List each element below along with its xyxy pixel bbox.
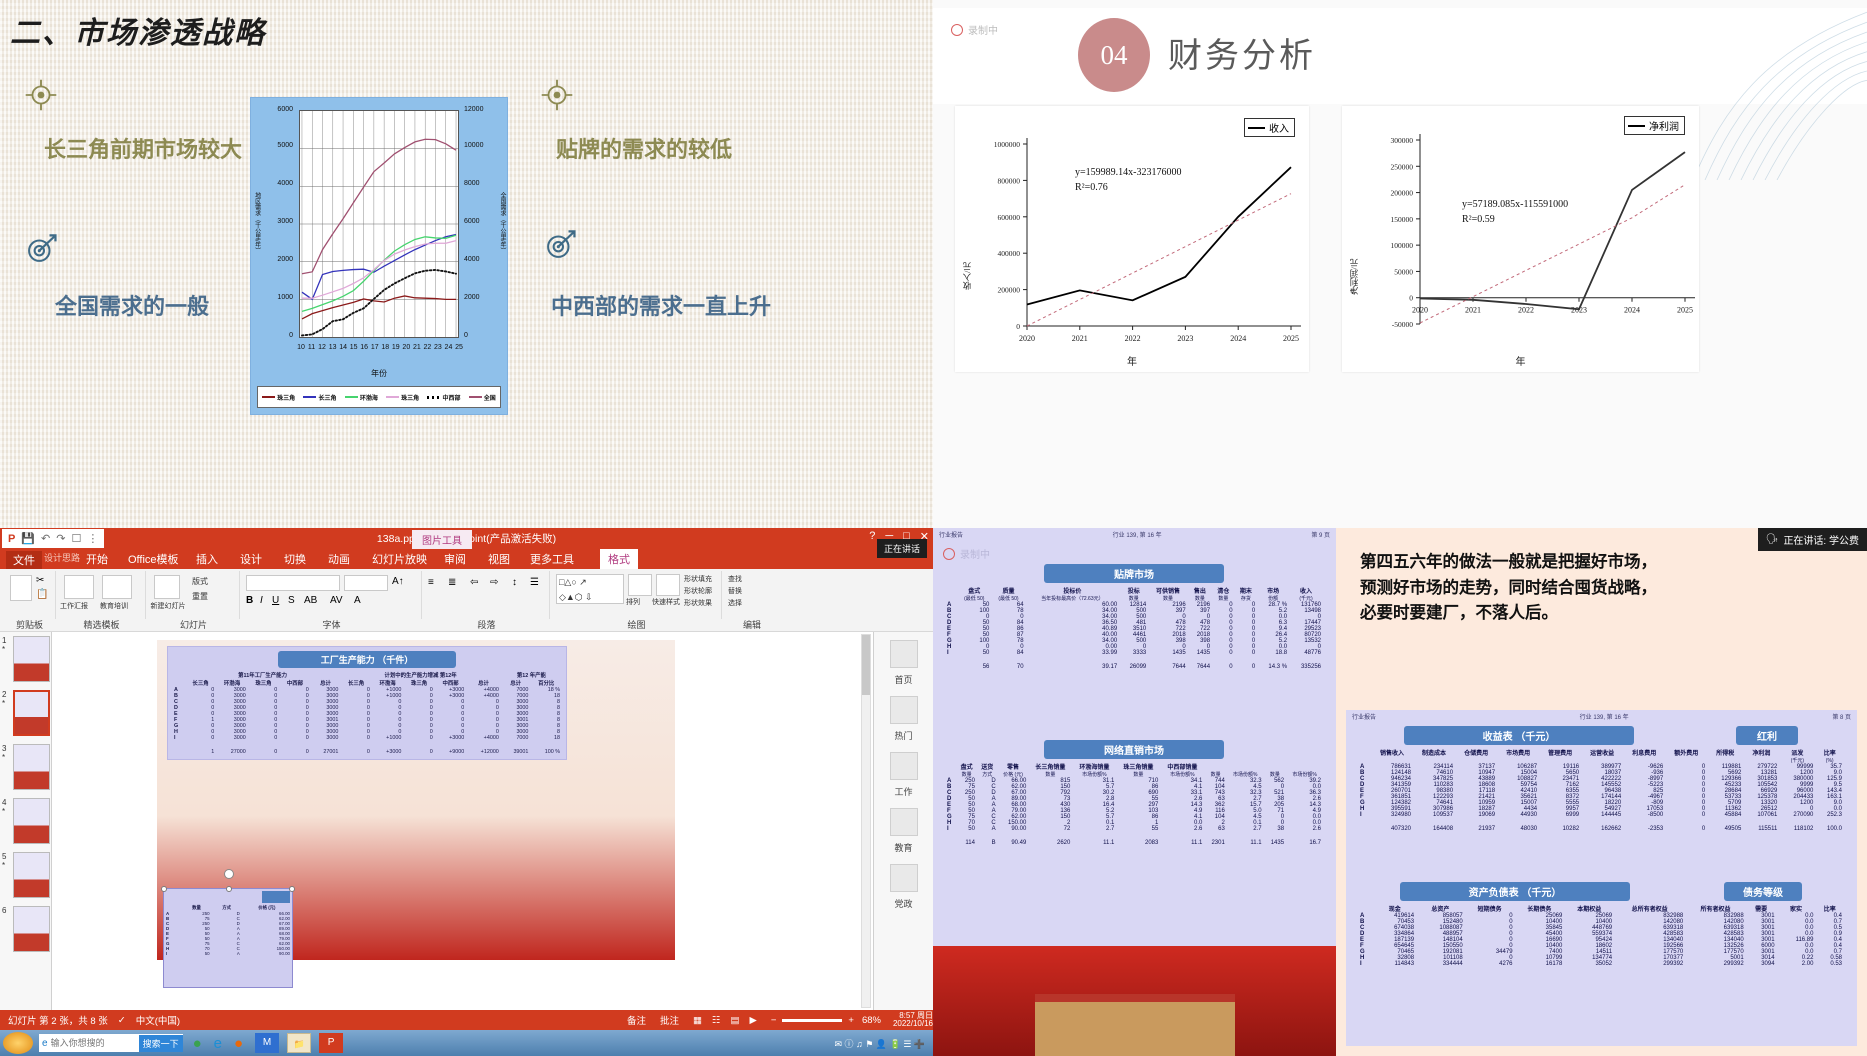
- ribbon-group-drawing[interactable]: □△○ ↗◇▲⬡ ⇩ 排列 快速样式 形状填充 形状轮廓 形状效果 绘图: [552, 571, 722, 619]
- svg-text:150000: 150000: [1391, 215, 1414, 224]
- speaking-chip: 🗣 正在讲话: 学公费: [1758, 528, 1867, 551]
- y-axis-label-right: 全国需求（千公里/年）: [498, 183, 505, 263]
- slide-thumbnail-2[interactable]: 2*: [2, 690, 49, 740]
- zoom-level[interactable]: 68%: [862, 1015, 881, 1026]
- svg-text:0: 0: [1016, 322, 1020, 331]
- column-header: 长三角销量: [1028, 762, 1072, 771]
- strikethrough-icon[interactable]: S: [288, 595, 295, 606]
- meeting-icon[interactable]: M: [255, 1033, 279, 1053]
- statusbar[interactable]: 幻灯片 第 2 张，共 8 张 ✓ 中文(中国) 备注 批注 ▦ ☷ ▤ ▶ −…: [0, 1010, 933, 1030]
- font-name-input[interactable]: [246, 575, 340, 591]
- decrease-indent-icon[interactable]: ⇦: [470, 577, 478, 588]
- cell: 39.17: [1026, 664, 1120, 670]
- column-subheader: 数量: [956, 771, 977, 778]
- column-header: 长三角: [340, 679, 371, 687]
- cell: 10282: [1539, 826, 1581, 832]
- column-header: 运营收益: [1581, 748, 1623, 757]
- right-rail[interactable]: 首页 热门 工作 教育 党政: [873, 632, 933, 1010]
- ie-icon[interactable]: e: [214, 1035, 222, 1052]
- tab-insert[interactable]: 插入: [196, 551, 218, 567]
- tab-design-ideas[interactable]: 设计思路: [44, 551, 80, 564]
- panel-finance-slide: 录制中 04 财务分析 收入 y=159989.14x-323176000 R²…: [933, 0, 1867, 528]
- rail-item-工作[interactable]: 工作: [884, 752, 924, 800]
- column-subheader: [1581, 757, 1623, 764]
- column-header: 珠三角: [403, 679, 434, 687]
- column-header: 投标: [1119, 586, 1148, 595]
- svg-text:200000: 200000: [998, 286, 1021, 295]
- column-header: 仓储费用: [1455, 748, 1497, 757]
- cell: 50: [181, 951, 211, 956]
- column-header: 盘式: [956, 762, 977, 771]
- rail-item-label: 教育: [894, 843, 912, 853]
- shadow-icon[interactable]: AB: [304, 595, 317, 606]
- strategy-note-line-1: 第四五六年的做法一般就是把握好市场，: [1360, 550, 1657, 576]
- cell: 115511: [1743, 826, 1779, 832]
- column-header: 市场: [1257, 586, 1289, 595]
- column-subheader: [1665, 757, 1707, 764]
- table-total-row: 12700000270010+30000+9000+1200039001100 …: [172, 749, 562, 755]
- column-header: 总资产: [1416, 904, 1465, 913]
- increase-indent-icon[interactable]: ⇨: [490, 577, 498, 588]
- svg-text:2022: 2022: [1518, 306, 1534, 315]
- legend-line-swatch: [303, 396, 316, 398]
- column-header: 利息费用: [1623, 748, 1665, 757]
- spellcheck-icon[interactable]: ✓: [118, 1015, 126, 1026]
- report-footer: 行业报告 行业 139, 第 16 年 第 8 页: [1346, 712, 1857, 721]
- italic-icon[interactable]: I: [260, 595, 263, 606]
- cut-icon[interactable]: ✂: [36, 575, 44, 586]
- legend-label: 环渤海: [360, 393, 378, 402]
- ribbon-group-clipboard[interactable]: ✂ 📋 剪贴板: [4, 571, 56, 619]
- oem-table-title: 贴牌市场: [1044, 564, 1224, 583]
- column-subheader: 数量: [1264, 771, 1286, 778]
- oem-market-table: 盘式质量投标价投标可供销售售出清仓期末市场收入(最低 50)(最低 50)当年投…: [945, 586, 1323, 670]
- cell: 7644: [1188, 664, 1212, 670]
- column-header: 管理费用: [1539, 748, 1581, 757]
- tab-view[interactable]: 视图: [488, 551, 510, 567]
- income-chart-svg: 0200000400000600000800000100000020202021…: [955, 106, 1309, 372]
- zoom-slider[interactable]: [782, 1019, 842, 1022]
- recording-indicator: 录制中: [951, 22, 998, 37]
- svg-text:2021: 2021: [1072, 334, 1088, 343]
- tab-transitions[interactable]: 切换: [284, 551, 306, 567]
- recording-label: 录制中: [968, 22, 998, 37]
- bold-icon[interactable]: B: [246, 595, 253, 606]
- rail-item-label: 首页: [894, 675, 912, 685]
- tab-home[interactable]: 开始: [86, 551, 108, 567]
- tab-office-templates[interactable]: Office模板: [128, 551, 179, 567]
- rail-item-党政[interactable]: 党政: [884, 864, 924, 912]
- table-header-chip: [262, 891, 290, 903]
- strategy-note-line-2: 预测好市场的走势，同时结合囤货战略，: [1360, 576, 1657, 602]
- cell: 114: [956, 840, 977, 846]
- svg-text:1000000: 1000000: [994, 140, 1021, 149]
- column-header: 总计: [501, 679, 531, 687]
- y-tick: 2000: [263, 256, 293, 263]
- online-market-section: 网络直销市场 盘式送货零售长三角销量环渤海销量珠三角销量中西部销量数量方式价格 …: [945, 740, 1323, 846]
- legend-dots-swatch: [427, 396, 440, 399]
- tab-more-tools[interactable]: 更多工具: [530, 551, 574, 567]
- normal-view-icon[interactable]: ▦: [693, 1015, 702, 1026]
- cell: 1: [185, 749, 216, 755]
- svg-text:2020: 2020: [1412, 306, 1428, 315]
- legend-item: 珠三角: [262, 393, 295, 402]
- cell: 0: [248, 749, 279, 755]
- shape-effects-button[interactable]: 形状效果: [684, 598, 712, 608]
- system-tray[interactable]: ✉ ⓘ ♫ ⚑ 👤 🔋 ☰ ➕: [834, 1037, 925, 1050]
- cell: 35052: [1564, 961, 1614, 967]
- taskbar-search[interactable]: e 搜索一下: [39, 1034, 183, 1052]
- column-header: 中西部: [435, 679, 466, 687]
- tab-format[interactable]: 格式: [600, 549, 638, 569]
- ribbon-group-paragraph[interactable]: ≡ ≣ ⇦ ⇨ ↕ ☰ 段落: [424, 571, 550, 619]
- row-id: [172, 749, 185, 755]
- replace-button[interactable]: 替换: [728, 586, 742, 596]
- recording-label: 录制中: [960, 546, 990, 561]
- column-subheader: 数量: [1028, 771, 1072, 778]
- new-slide-label: 新建幻灯片: [148, 601, 188, 611]
- zoom-out-icon[interactable]: −: [771, 1015, 777, 1026]
- cell: 90.49: [998, 840, 1029, 846]
- column-header: 制造成本: [1413, 748, 1455, 757]
- book-icon: [890, 808, 918, 836]
- table-total-row: 407320164408219374803010282162662-235304…: [1358, 826, 1844, 832]
- demand-chart: 6000 5000 4000 3000 2000 1000 0 12000 10…: [250, 97, 508, 415]
- income-y-axis-label: 收入/元: [961, 216, 973, 290]
- underline-icon[interactable]: U: [272, 595, 279, 606]
- svg-text:300000: 300000: [1391, 136, 1414, 145]
- y-tick-right: 4000: [464, 256, 494, 263]
- column-header: 送货: [977, 762, 998, 771]
- language-label[interactable]: 中文(中国): [136, 1013, 180, 1027]
- column-header: 百分比: [530, 679, 562, 687]
- speaking-label: 正在讲话: 学公费: [1783, 532, 1859, 547]
- cell: 56: [957, 664, 991, 670]
- column-subheader: 市场份额%: [1072, 771, 1116, 778]
- column-header: 珠三角销量: [1116, 762, 1160, 771]
- start-orb-icon[interactable]: [3, 1032, 33, 1054]
- report-footer-left: 行业报告: [1352, 712, 1376, 721]
- help-icon[interactable]: ?: [869, 530, 875, 543]
- column-header: 比率: [1815, 904, 1844, 913]
- row-id: [945, 664, 957, 670]
- tab-file[interactable]: 文件: [6, 551, 42, 569]
- row-id: I: [164, 951, 181, 956]
- thumbnail-preview[interactable]: [13, 744, 50, 790]
- column-header: 比率: [1815, 748, 1844, 757]
- target-arrow-icon: [24, 232, 58, 266]
- thumbnail-preview[interactable]: [13, 798, 50, 844]
- tab-design[interactable]: 设计: [240, 551, 262, 567]
- tab-review[interactable]: 审阅: [444, 551, 466, 567]
- legend-label: 长三角: [318, 393, 336, 402]
- cell: 27000: [216, 749, 247, 755]
- cell: A: [212, 951, 242, 956]
- column-subheader: [1371, 757, 1413, 764]
- cell: 0: [279, 749, 310, 755]
- screen-root: 二、市场渗透战略 长三角前期市场较大 贴牌的需求的较低 全: [0, 0, 1867, 1056]
- cell: 0: [1212, 664, 1235, 670]
- nested-online-table: 数量方式价格 (元)A250D66.00B75C62.00C250D67.00D…: [164, 905, 292, 956]
- column-header: 额外费用: [1665, 748, 1707, 757]
- svg-text:2024: 2024: [1624, 306, 1640, 315]
- bullet-label-1: 长三角前期市场较大: [44, 132, 242, 164]
- bullet-label-2: 贴牌的需求的较低: [556, 132, 732, 164]
- bullets-icon[interactable]: ≡: [428, 577, 434, 588]
- column-header: 售出: [1188, 586, 1212, 595]
- ribbon-group-font[interactable]: A↑ B I U S AB AV A 字体: [242, 571, 422, 619]
- font-size-input[interactable]: [344, 575, 388, 591]
- quick-styles-button[interactable]: [656, 574, 680, 596]
- column-header: 可供销售: [1148, 586, 1187, 595]
- svg-text:-50000: -50000: [1392, 320, 1413, 329]
- cell: 4276: [1465, 961, 1515, 967]
- thumbnail-number: 1*: [2, 636, 12, 654]
- y-tick-right: 6000: [464, 218, 494, 225]
- factory-capacity-table-image[interactable]: 工厂生产能力 （千件） 第11年工厂生产能力计划中的生产能力增减 第12年第12…: [167, 646, 567, 760]
- cell: 27001: [311, 749, 341, 755]
- arrange-label: 排列: [626, 597, 640, 607]
- column-header: 中西部: [279, 679, 310, 687]
- slide-thumbnail-5[interactable]: 5*: [2, 852, 49, 902]
- column-header: 总计: [311, 679, 341, 687]
- rail-item-label: 热门: [894, 731, 912, 741]
- powerpoint-icon[interactable]: P: [319, 1033, 343, 1053]
- arrange-button[interactable]: [628, 574, 652, 596]
- table-total-row: 114B90.49262011.1208311.1230111.1143516.…: [945, 840, 1323, 846]
- rotate-handle-icon[interactable]: [224, 869, 234, 879]
- group-header: 第12 年产能: [501, 671, 562, 679]
- page-title: 二、市场渗透战略: [10, 8, 266, 52]
- layout-button[interactable]: 版式: [192, 576, 208, 587]
- legend-label: 珠三角: [401, 393, 419, 402]
- copy-icon[interactable]: 📋: [36, 589, 48, 600]
- cell: 407320: [1371, 826, 1413, 832]
- column-header: 投标价: [1026, 586, 1120, 595]
- column-header: 短期债务: [1465, 904, 1515, 913]
- cell: 0.53: [1815, 961, 1844, 967]
- ribbon-tabs[interactable]: 文件 设计思路 开始 Office模板 插入 设计 切换 动画 幻灯片放映 审阅…: [0, 549, 933, 569]
- target-compass-icon: [24, 78, 58, 112]
- ribbon-group-editing[interactable]: 查找 替换 选择 编辑: [724, 571, 780, 619]
- cell: 48030: [1497, 826, 1539, 832]
- column-subheader: 市场份额%: [1286, 771, 1323, 778]
- cell: 2301: [1204, 840, 1226, 846]
- firefox-icon[interactable]: ●: [234, 1035, 243, 1052]
- ribbon-group-slides[interactable]: 新建幻灯片 版式 重置 幻灯片: [148, 571, 240, 619]
- ribbon[interactable]: ✂ 📋 剪贴板 工作汇报 教育培训 精选模板 新建幻灯片 版式 重置 幻灯片: [0, 569, 933, 632]
- zoom-in-icon[interactable]: +: [848, 1015, 854, 1026]
- thumbnail-preview[interactable]: [13, 636, 50, 682]
- tab-animations[interactable]: 动画: [328, 551, 350, 567]
- canvas-scrollbar[interactable]: [861, 634, 871, 1008]
- tab-slideshow[interactable]: 幻灯片放映: [372, 551, 427, 567]
- find-button[interactable]: 查找: [728, 574, 742, 584]
- cell: 118102: [1779, 826, 1815, 832]
- group-header: 计划中的生产能力增减 第12年: [340, 671, 500, 679]
- column-subheader: 份额: [1257, 595, 1289, 602]
- scrollbar-thumb[interactable]: [862, 635, 870, 695]
- panel-reports: 行业报告 行业 139, 第 16 年 第 9 页 录制中 贴牌市场 盘式质量投…: [933, 528, 1867, 1056]
- home-icon: [890, 640, 918, 668]
- folder-icon[interactable]: 📁: [287, 1033, 311, 1053]
- slide-thumbnail-1[interactable]: 1*: [2, 636, 49, 686]
- thumbnail-number: 3*: [2, 744, 12, 762]
- legend-label: 中西部: [442, 393, 460, 402]
- cell: 162662: [1581, 826, 1623, 832]
- thumbnail-preview[interactable]: [13, 906, 50, 952]
- y-tick: 3000: [263, 218, 293, 225]
- ribbon-group-label: 绘图: [552, 618, 721, 631]
- income-chart-card: 收入 y=159989.14x-323176000 R²=0.76 020000…: [955, 106, 1309, 372]
- rail-item-教育[interactable]: 教育: [884, 808, 924, 856]
- column-subheader: (最低 50): [991, 595, 1025, 602]
- resize-handle-n[interactable]: [226, 886, 232, 892]
- numbering-icon[interactable]: ≣: [448, 577, 456, 588]
- column-header: 市场费用: [1497, 748, 1539, 757]
- selected-image-object[interactable]: 数量方式价格 (元)A250D66.00B75C62.00C250D67.00D…: [163, 888, 293, 988]
- char-spacing-icon[interactable]: AV: [330, 595, 343, 606]
- factory-table-title: 工厂生产能力 （千件）: [278, 651, 456, 668]
- search-button[interactable]: 搜索一下: [139, 1035, 183, 1052]
- slideshow-icon[interactable]: ▶: [750, 1015, 757, 1026]
- column-header: 收入: [1289, 586, 1323, 595]
- cell: 14.3 %: [1257, 664, 1289, 670]
- cell: B: [977, 840, 998, 846]
- y-tick: 1000: [263, 294, 293, 301]
- shape-outline-button[interactable]: 形状轮廓: [684, 586, 712, 596]
- education-training-button[interactable]: [102, 575, 132, 599]
- legend-item: 长三角: [303, 393, 336, 402]
- resize-handle-nw[interactable]: [161, 886, 167, 892]
- column-header: 本期权益: [1564, 904, 1614, 913]
- cell: 0: [1235, 664, 1258, 670]
- picture-tools-context-tab[interactable]: 图片工具: [412, 530, 472, 549]
- thumbnail-preview[interactable]: [13, 690, 50, 736]
- legend-item: 环渤海: [345, 393, 378, 402]
- tiananmen-illustration: [1035, 994, 1235, 1056]
- profit-chart-svg: -500000500001000001500002000002500003000…: [1342, 106, 1699, 372]
- legend-line-swatch: [262, 396, 275, 398]
- row-id: [1358, 826, 1371, 832]
- report-header: 行业报告 行业 139, 第 16 年 第 9 页: [933, 530, 1336, 539]
- svg-text:2023: 2023: [1177, 334, 1193, 343]
- education-training-label: 教育培训: [100, 601, 128, 611]
- cell: 2620: [1028, 840, 1072, 846]
- online-market-table: 盘式送货零售长三角销量环渤海销量珠三角销量中西部销量数量方式价格 (元)数量市场…: [945, 762, 1323, 846]
- reading-view-icon[interactable]: ▤: [731, 1015, 740, 1026]
- recording-indicator: 录制中: [943, 546, 990, 561]
- slide-thumbnail-3[interactable]: 3*: [2, 744, 49, 794]
- rail-item-热门[interactable]: 热门: [884, 696, 924, 744]
- svg-text:2025: 2025: [1283, 334, 1299, 343]
- column-header: 总计: [466, 679, 501, 687]
- slide-thumbnail-pane[interactable]: 1* 2* 3* 4* 5* 6: [0, 632, 52, 1010]
- paste-button[interactable]: [10, 575, 32, 601]
- slide-thumbnail-6[interactable]: 6: [2, 906, 49, 956]
- svg-text:2021: 2021: [1465, 306, 1481, 315]
- search-input[interactable]: [51, 1035, 139, 1051]
- column-subheader: 价格 (元): [998, 771, 1029, 778]
- column-subheader: 方式: [977, 771, 998, 778]
- slide-stage[interactable]: 工厂生产能力 （千件） 第11年工厂生产能力计划中的生产能力增减 第12年第12…: [157, 640, 675, 960]
- grid-icon: [890, 696, 918, 724]
- increase-font-icon[interactable]: A↑: [392, 576, 404, 587]
- thumbnail-preview[interactable]: [13, 852, 50, 898]
- new-slide-button[interactable]: [154, 575, 180, 599]
- profit-y-axis-label: 净利润/元: [1348, 211, 1360, 295]
- cell: -2353: [1623, 826, 1665, 832]
- column-header: 所有者权益: [1685, 904, 1745, 913]
- svg-text:2022: 2022: [1125, 334, 1141, 343]
- cell: 11.1: [1160, 840, 1204, 846]
- oem-market-section: 贴牌市场 盘式质量投标价投标可供销售售出清仓期末市场收入(最低 50)(最低 5…: [945, 564, 1323, 670]
- debt-rating-title: 债务等级: [1724, 882, 1802, 901]
- column-header: 清仓: [1212, 586, 1235, 595]
- balance-sheet-table: 现金总资产短期债务长期债务本期权益总所有者权益所有者权益需要家实比率A41961…: [1358, 904, 1844, 967]
- demand-chart-legend: 珠三角 长三角 环渤海 珠三角 中西部 全国: [257, 386, 501, 408]
- column-header: 派发: [1779, 748, 1815, 757]
- slide-thumbnail-4[interactable]: 4*: [2, 798, 49, 848]
- target-arrow-icon: [543, 228, 577, 262]
- report-header-right: 第 9 页: [1311, 530, 1330, 539]
- cell: 100 %: [530, 749, 562, 755]
- select-button[interactable]: 选择: [728, 598, 742, 608]
- column-header: 珠三角: [248, 679, 279, 687]
- legend-label: 全国: [484, 393, 496, 402]
- cell: 11.1: [1227, 840, 1264, 846]
- bullet-label-4: 中西部的需求一直上升: [551, 289, 771, 321]
- y-tick: 4000: [263, 180, 293, 187]
- report-header-left: 行业报告: [939, 530, 963, 539]
- edge-icon[interactable]: ●: [193, 1035, 202, 1052]
- line-spacing-icon[interactable]: ↕: [512, 577, 517, 588]
- column-subheader: [1707, 757, 1743, 764]
- income-table-title: 收益表 （千元）: [1404, 726, 1634, 745]
- cell: 2083: [1116, 840, 1160, 846]
- svg-text:600000: 600000: [998, 213, 1021, 222]
- titlebar: P 💾 ↶ ↷ ☐ ⋮ 138a.pptx - PowerPoint(产品激活失…: [0, 528, 933, 549]
- strategy-report-panel: 🗣 正在讲话: 学公费 第四五六年的做法一般就是把握好市场， 预测好市场的走势，…: [1336, 528, 1867, 1056]
- svg-text:200000: 200000: [1391, 189, 1414, 198]
- work-report-button[interactable]: [64, 575, 94, 599]
- section-title: 财务分析: [1168, 28, 1316, 77]
- chart-icon: [890, 752, 918, 780]
- windows-taskbar[interactable]: e 搜索一下 ● e ● M 📁 P ✉ ⓘ ♫ ⚑ 👤 🔋 ☰ ➕: [0, 1030, 933, 1056]
- comments-button[interactable]: 批注: [660, 1013, 679, 1027]
- balance-section: 资产负债表 （千元） 债务等级 现金总资产短期债务长期债务本期权益总所有者权益所…: [1358, 882, 1844, 967]
- table-total-row: 567039.1726099764476440014.3 %335256: [945, 664, 1323, 670]
- slide-canvas[interactable]: 工厂生产能力 （千件） 第11年工厂生产能力计划中的生产能力增减 第12年第12…: [53, 632, 873, 1010]
- rail-item-首页[interactable]: 首页: [884, 640, 924, 688]
- slide-counter: 幻灯片 第 2 张，共 8 张: [8, 1013, 108, 1027]
- ribbon-group-templates[interactable]: 工作汇报 教育培训 精选模板: [58, 571, 146, 619]
- sorter-view-icon[interactable]: ☷: [712, 1015, 721, 1026]
- column-header: 需要: [1746, 904, 1777, 913]
- shapes-gallery[interactable]: □△○ ↗◇▲⬡ ⇩: [556, 574, 624, 604]
- row-id: [945, 840, 956, 846]
- edge-search-icon: e: [39, 1038, 51, 1049]
- shape-fill-button[interactable]: 形状填充: [684, 574, 712, 584]
- text-direction-icon[interactable]: ☰: [530, 577, 539, 588]
- font-color-icon[interactable]: A: [354, 595, 361, 606]
- notes-button[interactable]: 备注: [627, 1013, 646, 1027]
- income-section: 收益表 （千元） 红利 销售收入制造成本仓储费用市场费用管理费用运营收益利息费用…: [1358, 726, 1844, 832]
- column-header: 长三角: [185, 679, 216, 687]
- reset-button[interactable]: 重置: [192, 591, 208, 602]
- column-header: 销售收入: [1371, 748, 1413, 757]
- cell: +9000: [435, 749, 466, 755]
